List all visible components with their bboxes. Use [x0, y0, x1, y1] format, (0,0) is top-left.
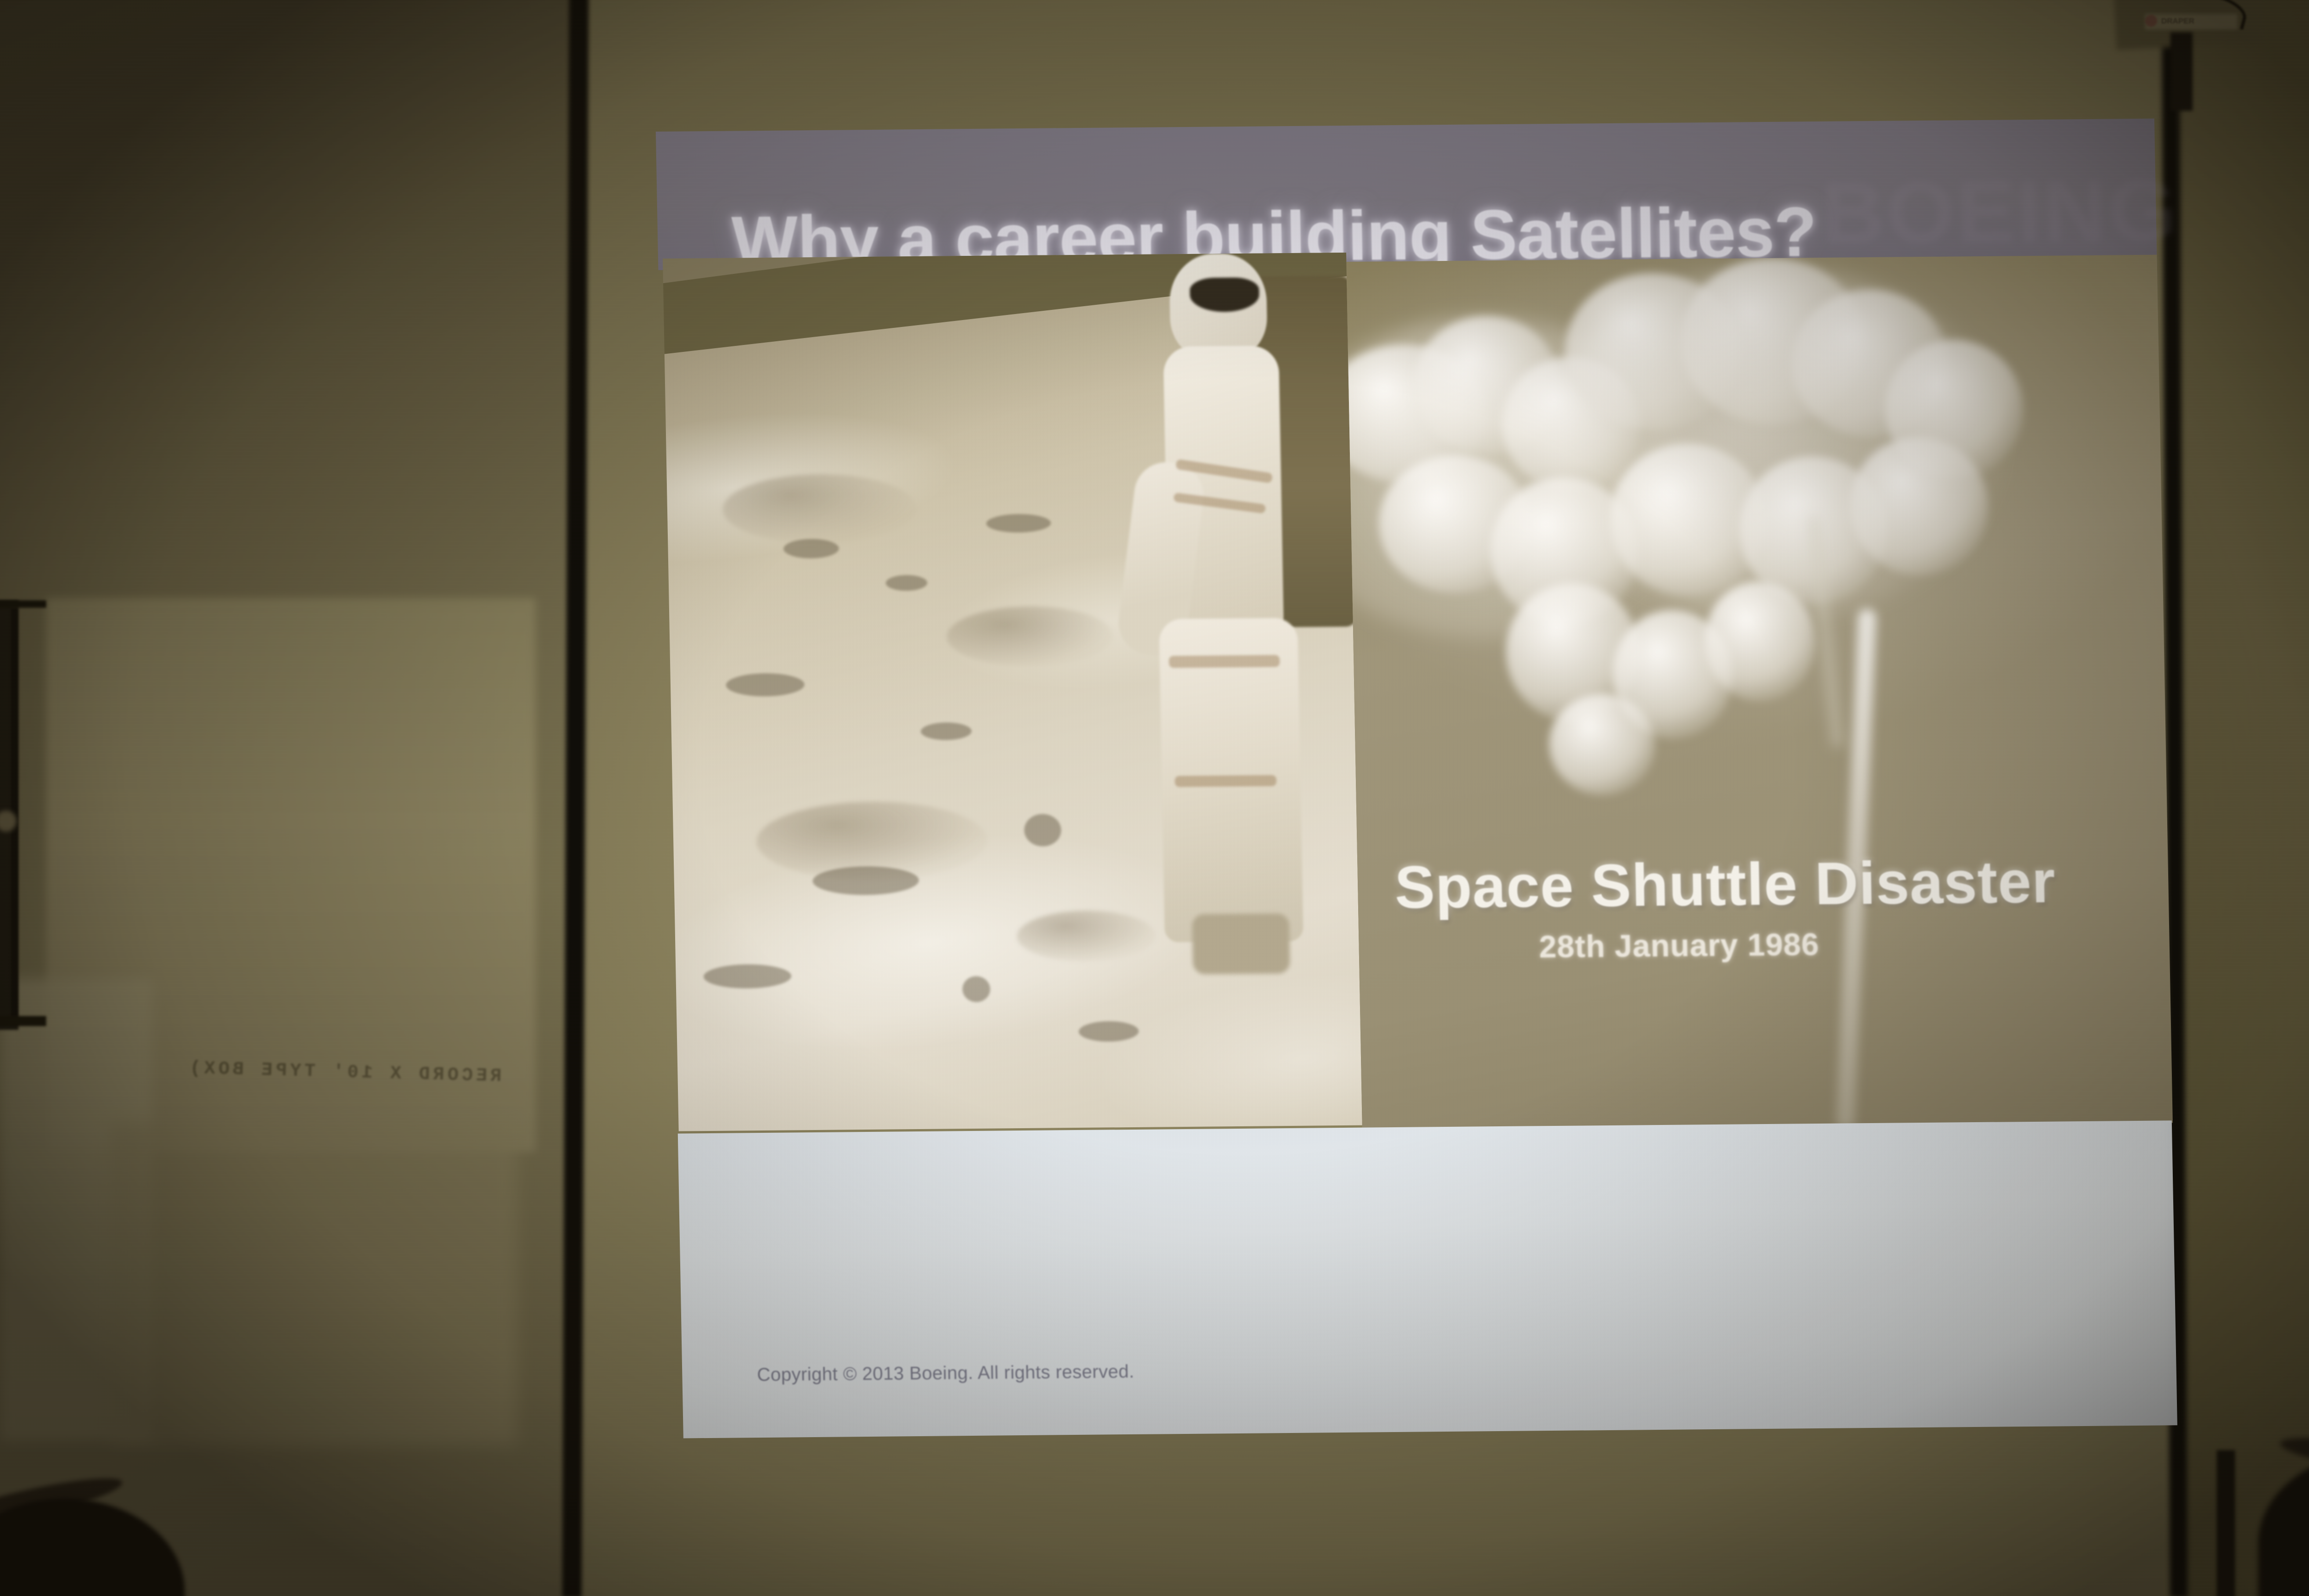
suit-stripe	[1169, 655, 1280, 668]
shuttle-date: 28th January 1986	[1539, 926, 1819, 965]
lunar-surface-astronaut-photo	[663, 253, 1362, 1131]
wall-panel-frame-bottom	[0, 1016, 46, 1026]
copyright-notice: Copyright © 2013 Boeing. All rights rese…	[757, 1361, 1135, 1385]
astronaut-boot	[1192, 913, 1290, 974]
lunar-rock	[1024, 814, 1061, 846]
challenger-explosion-photo: Space Shuttle Disaster 28th January 1986	[1346, 255, 2172, 1130]
roller-brand-text: DRAPER	[2161, 17, 2194, 26]
boeing-watermark: BOEING	[1820, 160, 2180, 264]
slide-footer-panel	[678, 1120, 2177, 1438]
astronaut-figure	[1092, 253, 1362, 1127]
chair-post-right	[2217, 1450, 2235, 1596]
screen-mount-bracket	[2170, 32, 2193, 111]
wall-paint-patch-bottom	[111, 1122, 517, 1445]
right-wall	[2173, 0, 2309, 1596]
presentation-slide: BOEING Why a career building Satellites?	[656, 119, 2177, 1494]
shuttle-caption: Space Shuttle Disaster	[1394, 847, 2056, 922]
suit-stripe	[1175, 775, 1276, 787]
roller-logo-icon	[2145, 15, 2157, 27]
lunar-rock	[962, 976, 991, 1003]
wall-panel-frame-top	[0, 600, 46, 608]
photo-of-projected-slide: RECORD X 10' TYPE BOX) DRAPER BOEING Why…	[0, 0, 2309, 1596]
